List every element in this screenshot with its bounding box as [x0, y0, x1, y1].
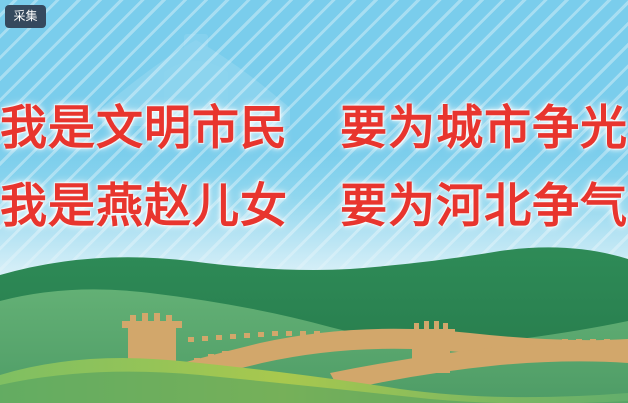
capture-button[interactable]: 采集	[5, 5, 46, 28]
slogan-line-2: 我是燕赵儿女 要为河北争气	[0, 182, 628, 229]
slogan-line-1: 我是文明市民 要为城市争光	[0, 104, 628, 151]
slogan-line2-left-text: 我是燕赵儿女	[0, 179, 288, 232]
landscape-illustration	[0, 243, 628, 403]
slogan-line1-left-text: 我是文明市民	[0, 101, 288, 154]
slogan-line2-right-text: 要为河北争气	[340, 179, 628, 232]
slogan-line1-right-text: 要为城市争光	[340, 101, 628, 154]
propaganda-poster: 我是文明市民 要为城市争光 我是燕赵儿女 要为河北争气 采集	[0, 0, 628, 403]
